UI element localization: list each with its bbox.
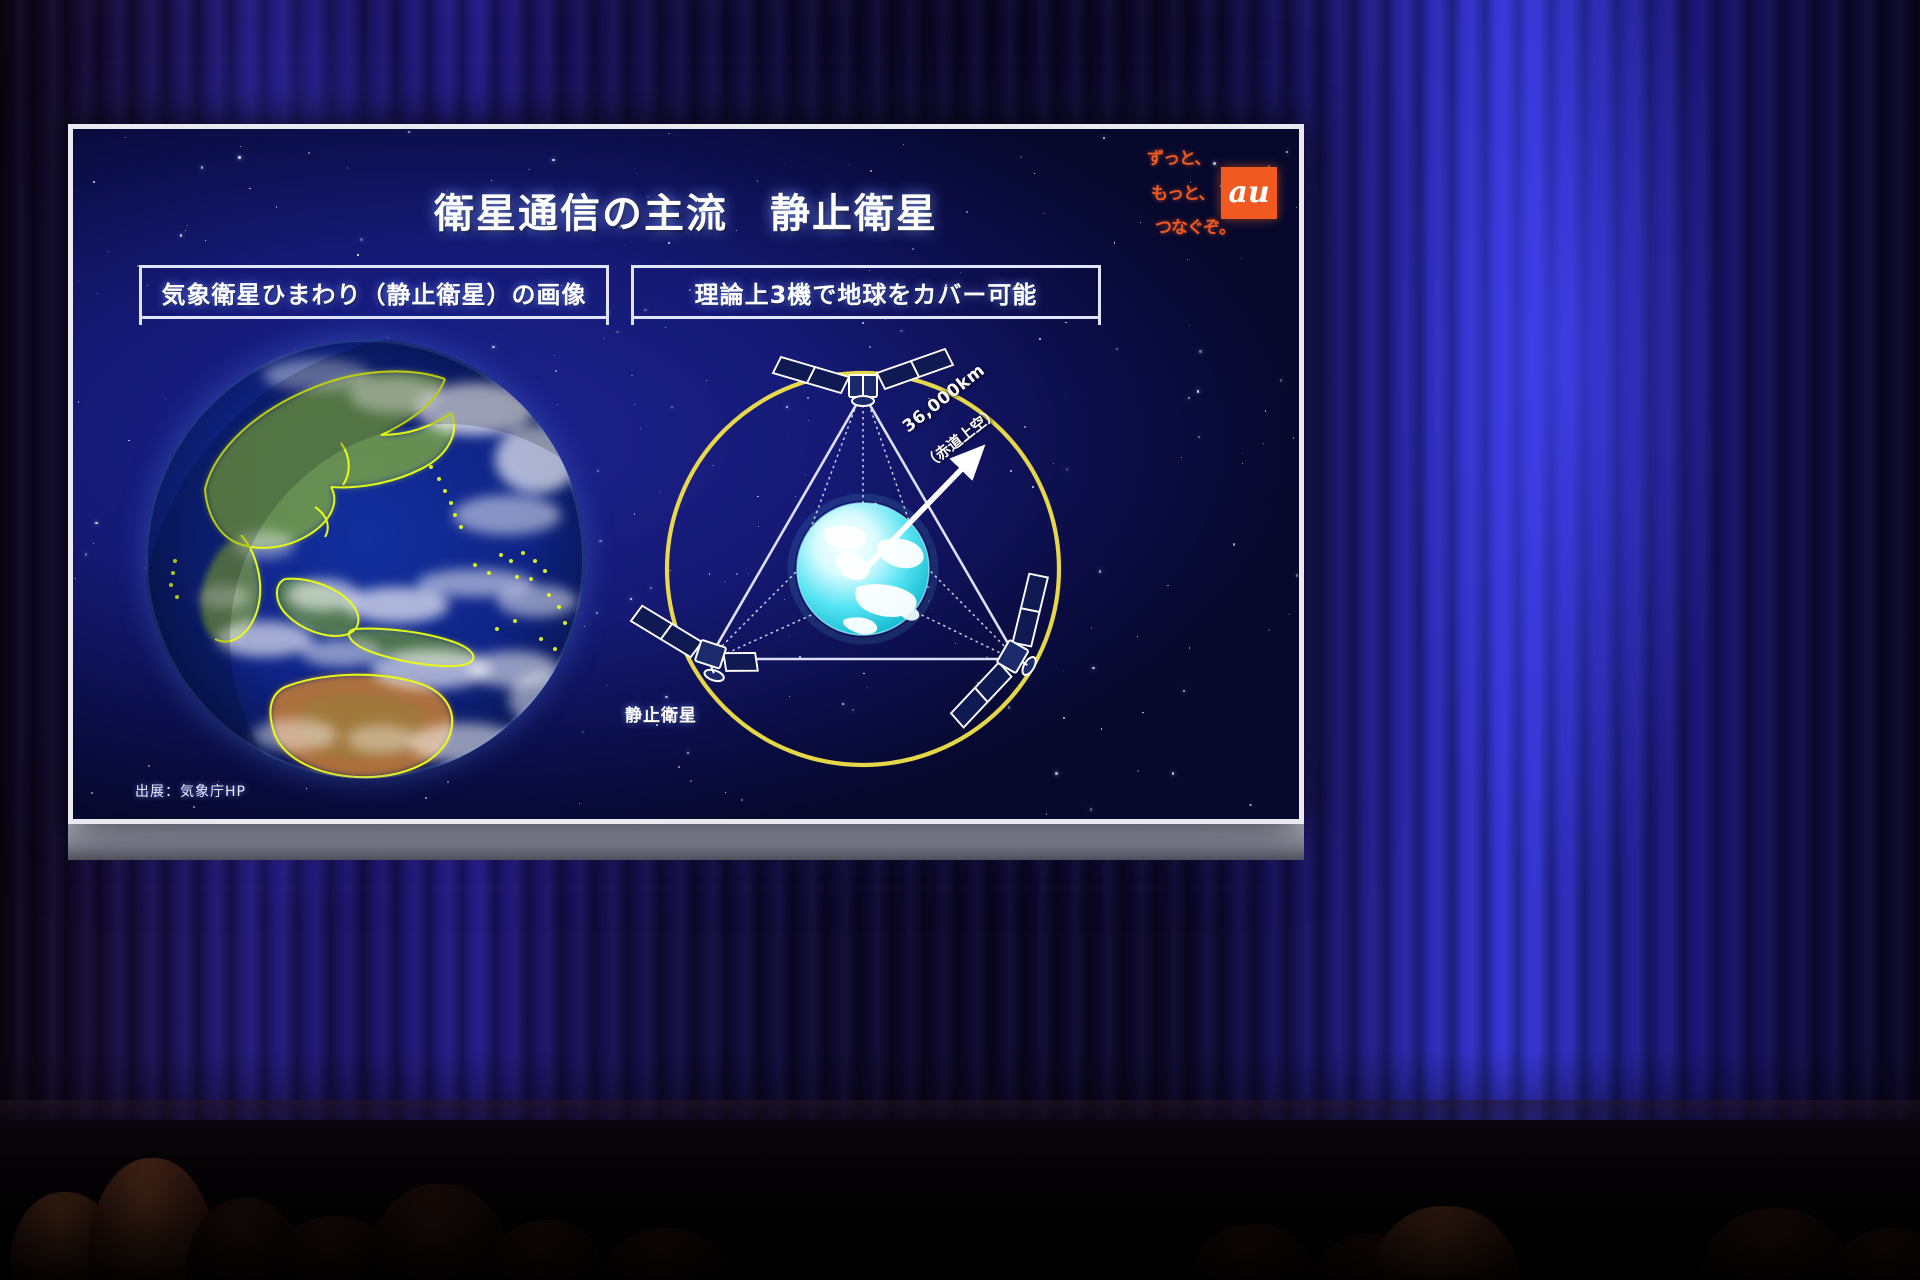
curtain-highlight-right: [1370, 0, 1800, 1190]
satellite-top: [773, 349, 953, 406]
au-tagline-line-3: つなぐぞ。: [1147, 220, 1231, 237]
label-right-text: 理論上3機で地球をカバー可能: [695, 275, 1038, 310]
satellite-label: 静止衛星: [625, 701, 697, 726]
himawari-globe-graphics: [145, 339, 585, 779]
orbit-diagram: 36,000km （赤道上空） 静止衛星: [613, 319, 1113, 789]
au-tagline-line-2: もっと、: [1147, 186, 1231, 203]
label-box-left: 気象衛星ひまわり（静止衛星）の画像: [139, 265, 609, 319]
projection-screen-frame: 衛星通信の主流 静止衛星 ずっと、 もっと、 つなぐぞ。 au 気象衛星ひまわり…: [68, 124, 1304, 824]
satellite-bottom-left: [621, 604, 765, 693]
himawari-earth-image: [145, 339, 585, 779]
himawari-globe: [145, 339, 585, 779]
au-badge: au: [1221, 167, 1277, 219]
au-logo: ずっと、 もっと、 つなぐぞ。 au: [1147, 151, 1277, 237]
label-left-text: 気象衛星ひまわり（静止衛星）の画像: [162, 275, 587, 310]
au-tagline-line-1: ずっと、: [1147, 151, 1231, 168]
screen-bottom-bar: [68, 824, 1304, 860]
au-badge-text: au: [1228, 178, 1269, 208]
slide-title: 衛星通信の主流 静止衛星: [73, 181, 1299, 239]
label-box-right: 理論上3機で地球をカバー可能: [631, 265, 1101, 319]
au-tagline: ずっと、 もっと、 つなぐぞ。: [1147, 151, 1231, 237]
source-credit: 出展：気象庁HP: [135, 781, 246, 801]
presentation-slide: 衛星通信の主流 静止衛星 ずっと、 もっと、 つなぐぞ。 au 気象衛星ひまわり…: [73, 129, 1299, 819]
stage-floor: [0, 1120, 1920, 1280]
stage-scene: 衛星通信の主流 静止衛星 ずっと、 もっと、 つなぐぞ。 au 気象衛星ひまわり…: [0, 0, 1920, 1280]
